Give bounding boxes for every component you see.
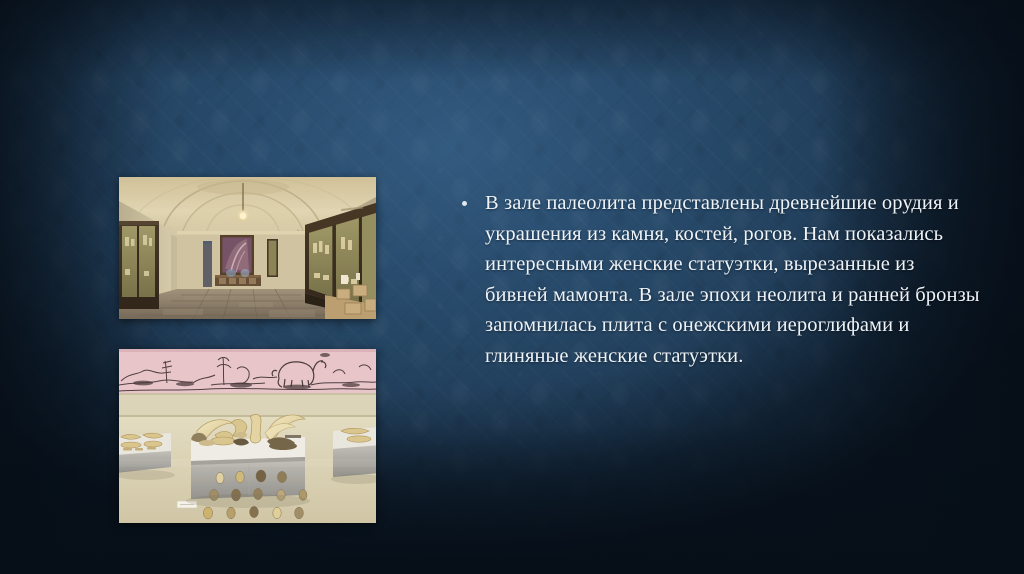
image-paleolithic-exhibit (119, 349, 376, 523)
bullet-paragraph: В зале палеолита представлены древнейшие… (485, 188, 982, 371)
bullet-list-item: В зале палеолита представлены древнейшие… (462, 188, 982, 371)
image-museum-hall (119, 177, 376, 319)
slide: В зале палеолита представлены древнейшие… (0, 0, 1024, 574)
body-text-block: В зале палеолита представлены древнейшие… (462, 188, 982, 371)
bullet-dot-icon (462, 201, 467, 206)
